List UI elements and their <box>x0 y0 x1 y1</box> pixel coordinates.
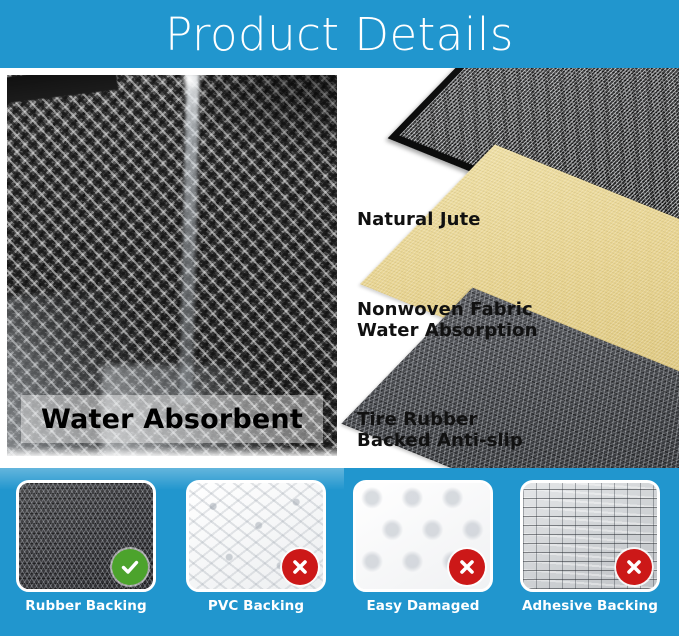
comparison-section: Rubber Backing PVC Backing <box>0 468 679 636</box>
label-nonwoven-fabric: Nonwoven Fabric Water Absorption <box>357 300 538 342</box>
comparison-tiles: Rubber Backing PVC Backing <box>0 468 679 636</box>
tile-label: Adhesive Backing <box>520 598 660 614</box>
tile-image-box <box>520 480 660 592</box>
photo-bottom-fade <box>7 446 337 456</box>
tile-label: Easy Damaged <box>353 598 493 614</box>
photo-caption: Water Absorbent <box>41 406 303 433</box>
comparison-tile-easy-damaged[interactable]: Easy Damaged <box>353 480 493 592</box>
caption-band: Water Absorbent <box>21 395 323 443</box>
label-natural-jute: Natural Jute <box>357 210 481 231</box>
comparison-tile-adhesive-backing[interactable]: Adhesive Backing <box>520 480 660 592</box>
middle-section: Water Absorbent Natural Jute Nonwoven Fa… <box>0 68 679 468</box>
product-details-infographic: Product Details Water Absorbent <box>0 0 679 636</box>
page-title: Product Details <box>165 12 514 57</box>
layer-diagram: Natural Jute Nonwoven Fabric Water Absor… <box>337 68 679 468</box>
check-icon <box>112 549 148 585</box>
tile-image-box <box>353 480 493 592</box>
tile-label: Rubber Backing <box>16 598 156 614</box>
tile-label: PVC Backing <box>186 598 326 614</box>
comparison-tile-rubber-backing[interactable]: Rubber Backing <box>16 480 156 592</box>
tile-image-box <box>16 480 156 592</box>
cross-icon <box>616 549 652 585</box>
comparison-tile-pvc-backing[interactable]: PVC Backing <box>186 480 326 592</box>
label-tire-rubber: Tire Rubber Backed Anti-slip <box>357 410 523 452</box>
header-banner: Product Details <box>0 0 679 68</box>
water-absorbent-photo: Water Absorbent <box>7 75 337 456</box>
water-splash-icon <box>180 75 198 91</box>
tile-image-box <box>186 480 326 592</box>
cross-icon <box>282 549 318 585</box>
cross-icon <box>449 549 485 585</box>
